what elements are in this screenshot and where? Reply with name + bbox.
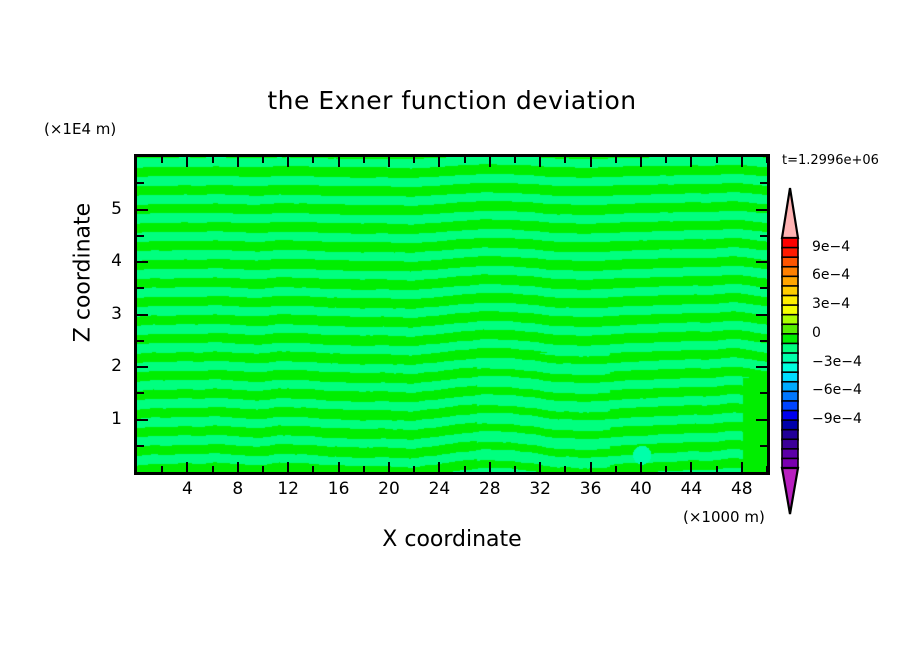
y-major-tick bbox=[137, 261, 148, 263]
colorbar-band bbox=[782, 334, 798, 344]
x-minor-tick-top bbox=[212, 157, 214, 163]
x-minor-tick bbox=[464, 466, 466, 472]
colorbar-band bbox=[782, 430, 798, 440]
x-major-tick-top bbox=[287, 157, 289, 167]
colorbar-band bbox=[782, 267, 798, 277]
x-major-tick-top bbox=[438, 157, 440, 167]
colorbar-tick-label: 6e−4 bbox=[812, 267, 850, 283]
x-major-tick bbox=[539, 462, 541, 472]
y-minor-tick bbox=[137, 340, 144, 342]
x-major-tick-top bbox=[741, 157, 743, 167]
y-minor-tick bbox=[137, 287, 144, 289]
colorbar-band bbox=[782, 315, 798, 325]
x-major-tick bbox=[438, 462, 440, 472]
colorbar-band bbox=[782, 420, 798, 430]
x-minor-tick-top bbox=[766, 157, 768, 163]
colorbar-tick-label: 3e−4 bbox=[812, 296, 850, 312]
colorbar-tick-label: −3e−4 bbox=[812, 354, 862, 370]
x-axis-tick-label: 32 bbox=[520, 479, 560, 499]
x-axis-tick-label: 40 bbox=[621, 479, 661, 499]
x-minor-tick bbox=[262, 466, 264, 472]
colorbar-band bbox=[782, 248, 798, 258]
x-minor-tick bbox=[363, 466, 365, 472]
y-minor-tick bbox=[137, 392, 144, 394]
colorbar-over-arrow bbox=[782, 188, 798, 238]
x-major-tick bbox=[690, 462, 692, 472]
colorbar-band bbox=[782, 286, 798, 296]
x-axis-tick-label: 24 bbox=[419, 479, 459, 499]
x-major-tick bbox=[640, 462, 642, 472]
x-axis-tick-label: 16 bbox=[319, 479, 359, 499]
x-axis-tick-label: 12 bbox=[268, 479, 308, 499]
colorbar-band bbox=[782, 391, 798, 401]
colorbar-band bbox=[782, 324, 798, 334]
x-major-tick bbox=[338, 462, 340, 472]
y-minor-tick bbox=[137, 445, 144, 447]
x-minor-tick-top bbox=[363, 157, 365, 163]
x-major-tick-top bbox=[590, 157, 592, 167]
colorbar-band bbox=[782, 276, 798, 286]
x-minor-tick-top bbox=[262, 157, 264, 163]
colorbar-band bbox=[782, 372, 798, 382]
x-minor-tick bbox=[615, 466, 617, 472]
x-minor-tick-top bbox=[514, 157, 516, 163]
contour-plot-area bbox=[134, 154, 770, 475]
colorbar bbox=[770, 186, 810, 516]
x-axis-tick-label: 44 bbox=[671, 479, 711, 499]
x-major-tick-top bbox=[338, 157, 340, 167]
x-axis-tick-label: 4 bbox=[167, 479, 207, 499]
y-minor-tick-right bbox=[760, 287, 767, 289]
x-axis-title: X coordinate bbox=[0, 527, 904, 552]
colorbar-band bbox=[782, 238, 798, 248]
x-axis-tick-label: 36 bbox=[571, 479, 611, 499]
y-major-tick bbox=[137, 419, 148, 421]
x-major-tick-top bbox=[690, 157, 692, 167]
colorbar-tick-label: −6e−4 bbox=[812, 382, 862, 398]
x-axis-tick-label: 48 bbox=[722, 479, 762, 499]
colorbar-band bbox=[782, 257, 798, 267]
colorbar-tick-label: 0 bbox=[812, 325, 821, 341]
x-minor-tick bbox=[716, 466, 718, 472]
x-major-tick bbox=[741, 462, 743, 472]
x-minor-tick-top bbox=[312, 157, 314, 163]
y-axis-tick-label: 3 bbox=[96, 304, 122, 324]
colorbar-band bbox=[782, 343, 798, 353]
x-minor-tick bbox=[564, 466, 566, 472]
colorbar-tick-label: 9e−4 bbox=[812, 239, 850, 255]
x-major-tick-top bbox=[186, 157, 188, 167]
x-major-tick-top bbox=[489, 157, 491, 167]
x-minor-tick-top bbox=[615, 157, 617, 163]
x-major-tick-top bbox=[539, 157, 541, 167]
y-major-tick bbox=[137, 366, 148, 368]
y-axis-title: Z coordinate bbox=[71, 183, 96, 363]
colorbar-band bbox=[782, 449, 798, 459]
y-axis-unit-label: (×1E4 m) bbox=[44, 120, 116, 138]
colorbar-under-arrow bbox=[782, 468, 798, 514]
x-minor-tick bbox=[161, 466, 163, 472]
y-axis-tick-label: 4 bbox=[96, 251, 122, 271]
y-major-tick-right bbox=[756, 366, 767, 368]
x-minor-tick-top bbox=[413, 157, 415, 163]
y-major-tick-right bbox=[756, 261, 767, 263]
x-minor-tick-top bbox=[464, 157, 466, 163]
y-minor-tick-right bbox=[760, 445, 767, 447]
x-minor-tick bbox=[312, 466, 314, 472]
colorbar-band bbox=[782, 363, 798, 373]
x-major-tick bbox=[489, 462, 491, 472]
colorbar-band bbox=[782, 411, 798, 421]
y-major-tick-right bbox=[756, 314, 767, 316]
colorbar-tick-label: −9e−4 bbox=[812, 411, 862, 427]
y-axis-tick-label: 5 bbox=[96, 199, 122, 219]
colorbar-band bbox=[782, 401, 798, 411]
colorbar-band bbox=[782, 296, 798, 306]
y-minor-tick-right bbox=[760, 340, 767, 342]
x-minor-tick bbox=[514, 466, 516, 472]
x-major-tick bbox=[237, 462, 239, 472]
y-minor-tick-right bbox=[760, 235, 767, 237]
y-minor-tick bbox=[137, 182, 144, 184]
y-major-tick bbox=[137, 314, 148, 316]
x-major-tick bbox=[186, 462, 188, 472]
x-minor-tick-top bbox=[716, 157, 718, 163]
colorbar-band bbox=[782, 439, 798, 449]
x-major-tick-top bbox=[237, 157, 239, 167]
x-minor-tick-top bbox=[564, 157, 566, 163]
x-major-tick-top bbox=[388, 157, 390, 167]
colorbar-band bbox=[782, 305, 798, 315]
x-major-tick-top bbox=[640, 157, 642, 167]
contour-field-canvas bbox=[137, 157, 767, 472]
x-minor-tick bbox=[413, 466, 415, 472]
x-minor-tick bbox=[766, 466, 768, 472]
y-major-tick bbox=[137, 209, 148, 211]
y-minor-tick-right bbox=[760, 182, 767, 184]
x-major-tick bbox=[287, 462, 289, 472]
x-major-tick bbox=[388, 462, 390, 472]
x-axis-unit-label: (×1000 m) bbox=[683, 508, 765, 526]
colorbar-band bbox=[782, 382, 798, 392]
y-major-tick-right bbox=[756, 419, 767, 421]
timestamp-label: t=1.2996e+06 bbox=[782, 153, 879, 168]
x-axis-tick-label: 20 bbox=[369, 479, 409, 499]
page-title: the Exner function deviation bbox=[0, 86, 904, 115]
x-major-tick bbox=[590, 462, 592, 472]
x-minor-tick bbox=[665, 466, 667, 472]
x-axis-tick-label: 28 bbox=[470, 479, 510, 499]
y-minor-tick bbox=[137, 235, 144, 237]
colorbar-band bbox=[782, 353, 798, 363]
x-minor-tick-top bbox=[665, 157, 667, 163]
x-axis-tick-label: 8 bbox=[218, 479, 258, 499]
y-axis-tick-label: 2 bbox=[96, 356, 122, 376]
y-minor-tick-right bbox=[760, 392, 767, 394]
y-axis-tick-label: 1 bbox=[96, 409, 122, 429]
x-minor-tick-top bbox=[161, 157, 163, 163]
x-minor-tick bbox=[212, 466, 214, 472]
y-major-tick-right bbox=[756, 209, 767, 211]
